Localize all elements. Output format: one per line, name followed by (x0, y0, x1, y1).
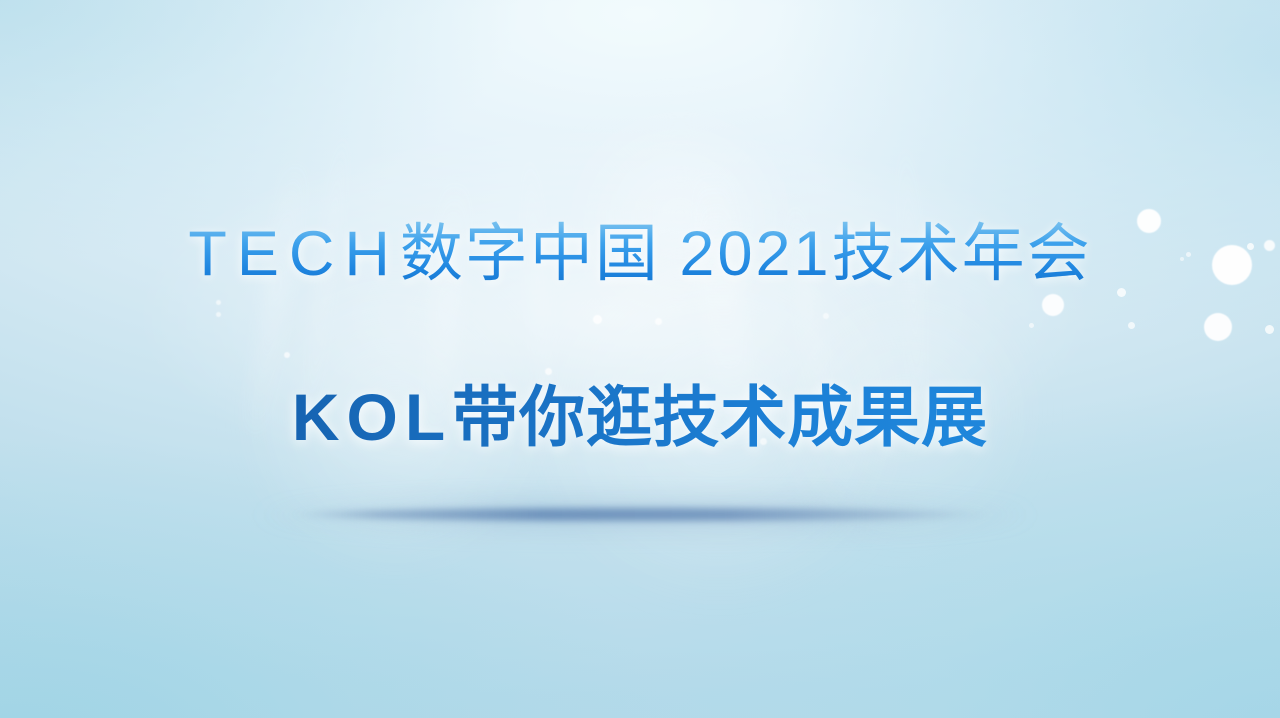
bokeh-particle-17 (216, 300, 221, 305)
title-cjk-tech-annual: 技术年会 (832, 219, 1092, 289)
bokeh-particle-15 (545, 368, 552, 375)
bokeh-particle-14 (655, 318, 662, 325)
motion-streak (292, 508, 992, 521)
bokeh-particle-13 (593, 315, 602, 324)
bokeh-particle-6 (1042, 294, 1064, 316)
title-space (660, 219, 680, 289)
bokeh-particle-7 (1117, 288, 1126, 297)
title-card-stage: TECH数字中国 2021技术年会 KOL带你逛技术成果展 (0, 0, 1280, 718)
bokeh-particle-18 (216, 312, 221, 317)
title-line-primary: TECH数字中国 2021技术年会 (0, 219, 1280, 289)
title-cjk-digital-china: 数字中国 (400, 219, 660, 289)
title-latin-tech: TECH (188, 219, 400, 289)
bokeh-particle-8 (1128, 322, 1135, 329)
bokeh-particle-5 (1265, 325, 1274, 334)
bokeh-particle-4 (1204, 313, 1232, 341)
title-year: 2021 (679, 219, 831, 289)
bokeh-particle-12 (1029, 323, 1034, 328)
subtitle-cjk-tour: 带你逛技术成果展 (452, 380, 988, 454)
bokeh-particle-19 (823, 313, 829, 319)
background-center-glow (0, 0, 1280, 718)
title-line-secondary: KOL带你逛技术成果展 (0, 379, 1280, 455)
bokeh-particle-16 (284, 352, 290, 358)
subtitle-latin-kol: KOL (292, 380, 452, 454)
